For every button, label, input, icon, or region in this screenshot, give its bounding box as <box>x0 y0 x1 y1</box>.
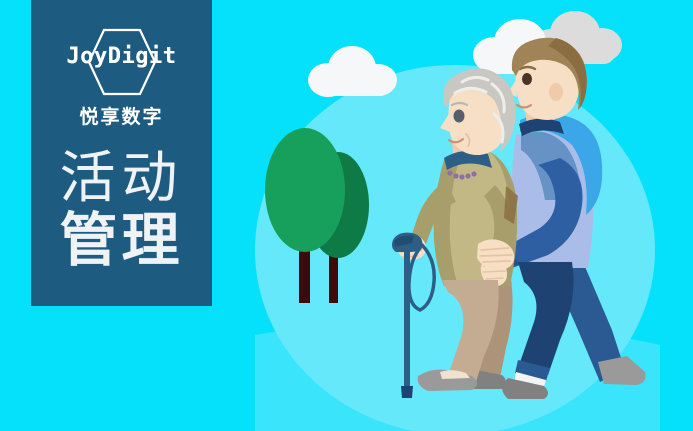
logo-subtitle-cn: 悦享数字 <box>79 102 163 129</box>
page-title-line1: 活动 <box>31 149 212 208</box>
man-ear <box>549 83 563 101</box>
page-title-line2: 管理 <box>31 210 212 271</box>
woman-eye <box>454 110 465 123</box>
man-eye <box>522 73 532 85</box>
brand-panel: JoyDigit 悦享数字 活动 管理 <box>31 0 212 306</box>
title-block: 活动 管理 <box>31 149 212 272</box>
logo-block: JoyDigit <box>52 26 192 100</box>
logo-wordmark: JoyDigit <box>52 44 192 69</box>
cane-tip <box>401 386 413 398</box>
poster: JoyDigit 悦享数字 活动 管理 <box>0 0 693 431</box>
